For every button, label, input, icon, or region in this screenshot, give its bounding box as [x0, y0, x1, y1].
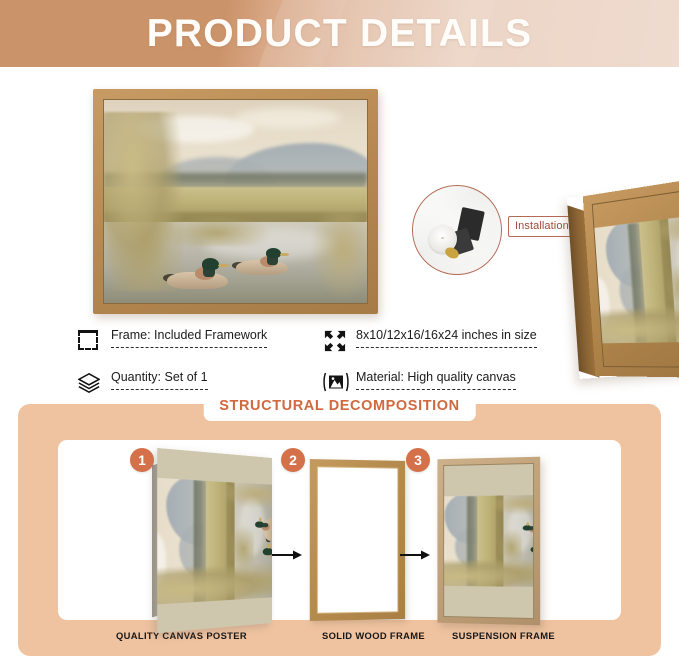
dashed-frame-icon: [78, 330, 100, 352]
main-artwork-canvas: [103, 99, 368, 304]
product-details-infographic: PRODUCT DETAILS: [0, 0, 679, 668]
specifications-list: Frame: Included Framework Quantity: Set …: [0, 322, 679, 398]
step-3-suspension-frame: [437, 457, 540, 626]
step-badge-2: 2: [281, 448, 305, 472]
picture-icon: [323, 372, 345, 394]
spec-row-quantity: Quantity: Set of 1: [78, 370, 208, 394]
spec-label-material: Material: High quality canvas: [356, 370, 516, 384]
spec-label-frame: Frame: Included Framework: [111, 328, 267, 342]
caption-step-1: QUALITY CANVAS POSTER: [116, 630, 247, 641]
installation-package-photo: [412, 185, 502, 275]
caption-step-2: SOLID WOOD FRAME: [322, 630, 425, 641]
spec-label-size: 8x10/12x16/16x24 inches in size: [356, 328, 537, 342]
pond-ducks-painting: [104, 100, 367, 303]
spec-underline: [356, 347, 537, 348]
structural-decomposition-title: STRUCTURAL DECOMPOSITION: [203, 392, 476, 421]
spec-label-quantity: Quantity: Set of 1: [111, 370, 208, 384]
spec-underline: [111, 347, 267, 348]
spec-row-frame: Frame: Included Framework: [78, 328, 267, 352]
step-2-solid-wood-frame: [310, 459, 405, 621]
arrow-right-icon: [400, 548, 430, 560]
main-framed-artwork: [93, 89, 378, 314]
step-badge-1: 1: [130, 448, 154, 472]
arrow-right-icon: [272, 548, 302, 560]
spec-row-size: 8x10/12x16/16x24 inches in size: [323, 328, 537, 352]
resize-arrows-icon: [323, 330, 345, 352]
spec-underline: [356, 389, 516, 390]
page-title: PRODUCT DETAILS: [0, 0, 679, 67]
spec-row-material: Material: High quality canvas: [323, 370, 516, 394]
duck-right: [236, 248, 289, 274]
spec-underline: [111, 389, 208, 390]
step-badge-3: 3: [406, 448, 430, 472]
step-1-canvas-poster: [152, 458, 272, 623]
duck-left: [167, 258, 227, 288]
header-banner: PRODUCT DETAILS: [0, 0, 679, 67]
layers-stack-icon: [78, 372, 100, 394]
caption-step-3: SUSPENSION FRAME: [452, 630, 555, 641]
